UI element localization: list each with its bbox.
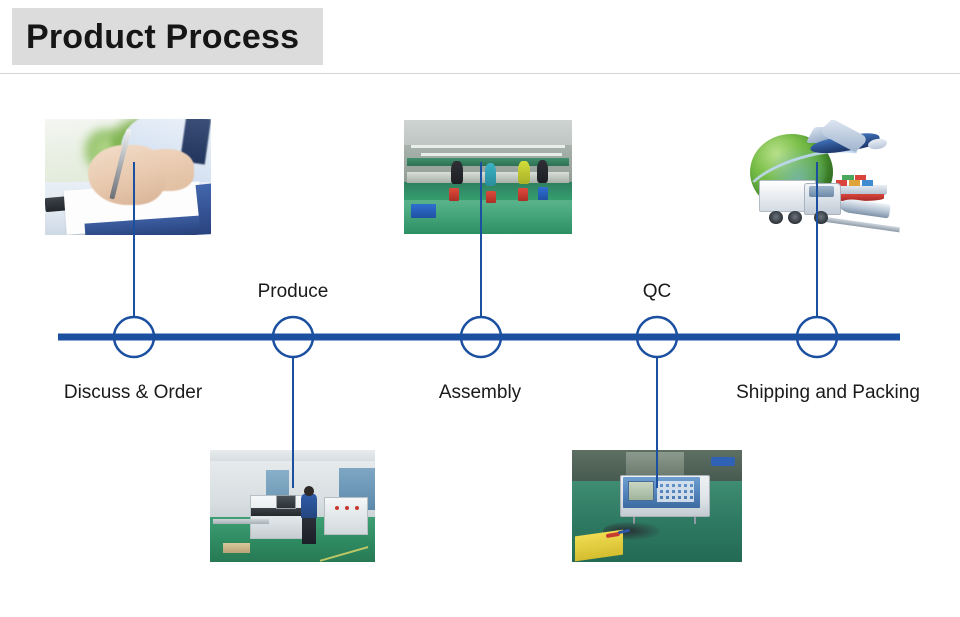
step-label-qc: QC — [643, 282, 672, 301]
timeline-graphics — [0, 74, 960, 617]
step-label-assembly: Assembly — [439, 383, 521, 402]
process-timeline-diagram: Discuss & OrderProduceAssemblyQCShipping… — [0, 74, 960, 617]
timeline-connectors — [134, 162, 817, 488]
page-title-box: Product Process — [12, 8, 323, 65]
step-label-produce: Produce — [258, 282, 329, 301]
step-label-shipping-packing: Shipping and Packing — [736, 383, 920, 402]
page-header: Product Process — [0, 0, 960, 74]
step-label-discuss-order: Discuss & Order — [64, 383, 202, 402]
page-title: Product Process — [12, 20, 299, 54]
